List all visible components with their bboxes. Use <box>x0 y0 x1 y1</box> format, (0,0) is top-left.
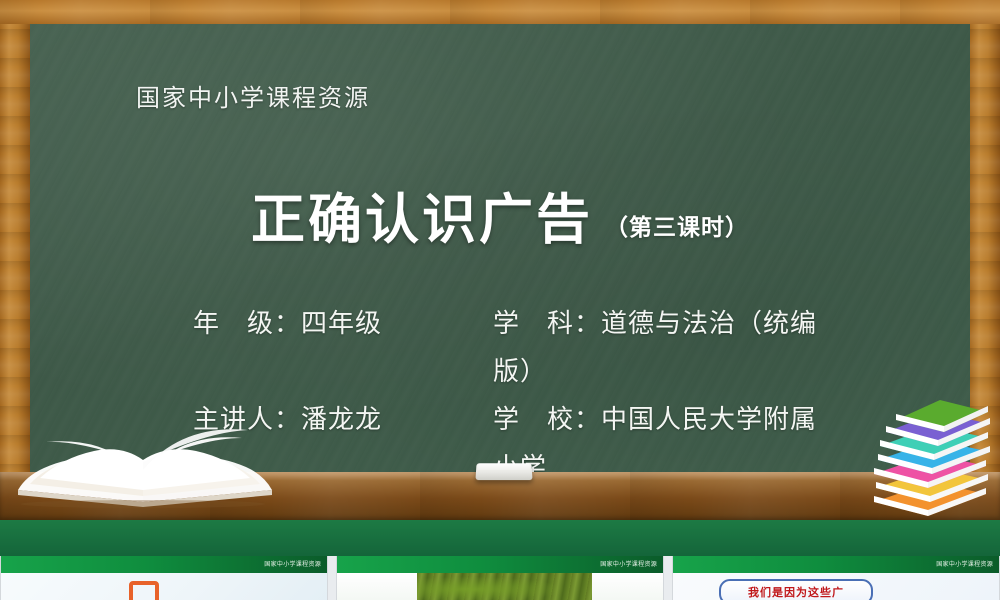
thumbnail-watermark: 国家中小学课程资源 <box>936 559 993 568</box>
meta-row: 年 级：四年级 学 科：道德与法治（统编版） <box>0 300 1000 396</box>
thumbnail-title-text: 我们是因为这些广 <box>748 584 844 600</box>
thumbnail-body <box>337 573 663 600</box>
meta-teacher-value: 潘龙龙 <box>301 405 382 435</box>
thumbnail-header: 国家中小学课程资源 <box>337 556 663 573</box>
open-book-icon <box>10 418 280 508</box>
meta-grade: 年 级：四年级 <box>177 300 493 348</box>
slide-root: 国家中小学课程资源 正确认识广告 （第三课时） 年 级：四年级 学 科：道德与法… <box>0 0 1000 600</box>
shopping-bag-icon <box>129 581 159 600</box>
thumbnail-watermark: 国家中小学课程资源 <box>600 559 657 568</box>
wooden-frame-top <box>0 0 1000 24</box>
book-stack-icon <box>862 398 994 520</box>
thumbnail-body: 我们是因为这些广 <box>673 573 999 600</box>
brand-text: 国家中小学课程资源 <box>136 78 370 113</box>
thumbnail-title-badge: 我们是因为这些广 <box>719 579 873 600</box>
title-row: 正确认识广告 （第三课时） <box>0 192 1000 249</box>
thumbnail-slide-3[interactable]: 国家中小学课程资源 我们是因为这些广 <box>672 556 1000 600</box>
meta-grade-label: 年 级： <box>193 309 301 339</box>
eraser-icon <box>475 463 532 480</box>
meta-subject: 学 科：道德与法治（统编版） <box>493 300 823 396</box>
page-title: 正确认识广告 <box>251 192 593 249</box>
thumbnail-slide-1[interactable]: 国家中小学课程资源 <box>0 556 328 600</box>
meta-school-label: 学 校： <box>493 405 601 435</box>
thumbnail-strip[interactable]: 国家中小学课程资源 国家中小学课程资源 国家中小学课程资源 我们是因为这些广 <box>0 556 1000 600</box>
thumbnail-body <box>1 573 327 600</box>
meta-subject-label: 学 科： <box>493 309 601 339</box>
thumbnail-header: 国家中小学课程资源 <box>1 556 327 573</box>
thumbnail-header: 国家中小学课程资源 <box>673 556 999 573</box>
board-base <box>0 520 1000 556</box>
page-subtitle: （第三课时） <box>605 208 749 242</box>
field-photo <box>417 573 592 600</box>
thumbnail-watermark: 国家中小学课程资源 <box>264 559 321 568</box>
chalkboard-stage: 国家中小学课程资源 正确认识广告 （第三课时） 年 级：四年级 学 科：道德与法… <box>0 0 1000 556</box>
meta-grade-value: 四年级 <box>301 309 382 339</box>
thumbnail-slide-2[interactable]: 国家中小学课程资源 <box>336 556 664 600</box>
